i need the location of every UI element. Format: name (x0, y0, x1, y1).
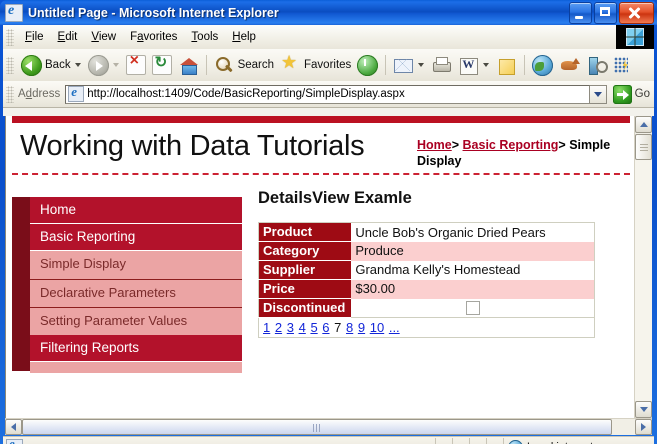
menu-favorites[interactable]: Favorites (123, 30, 184, 44)
search-icon (214, 55, 235, 76)
page-body: Home Basic Reporting Simple Display (12, 175, 630, 371)
menu-file[interactable]: File (18, 30, 51, 44)
sidebar-item-label: Basic Reporting (30, 224, 242, 251)
table-row: Product Uncle Bob's Organic Dried Pears (259, 223, 595, 242)
messenger-icon (613, 55, 634, 76)
sidebar-item-home[interactable]: Home (12, 197, 242, 224)
refresh-button[interactable] (149, 52, 175, 78)
security-zone-pane[interactable]: Local intranet (504, 438, 654, 444)
row-label-discontinued: Discontinued (259, 299, 352, 318)
row-value-category: Produce (351, 242, 595, 261)
pager-row: 1 2 3 4 5 6 7 8 9 10 (259, 318, 595, 338)
chevron-up-icon (640, 122, 648, 127)
menubar-grip[interactable] (6, 29, 14, 46)
sidebar-item-label: Setting Parameter Values (30, 308, 242, 335)
search-label: Search (238, 59, 274, 71)
table-row: Discontinued (259, 299, 595, 318)
close-button[interactable] (619, 2, 654, 24)
pager-link-3[interactable]: 3 (287, 320, 294, 335)
address-dropdown-button[interactable] (590, 85, 607, 104)
print-icon (431, 55, 452, 76)
note-icon (496, 55, 517, 76)
navigation-toolbar: Back Search Favorites (3, 49, 654, 82)
row-value-supplier: Grandma Kelly's Homestead (351, 261, 595, 280)
toolbar-separator-2 (385, 55, 386, 75)
toolbar-separator (206, 55, 207, 75)
window-title: Untitled Page - Microsoft Internet Explo… (28, 6, 279, 20)
home-button[interactable] (175, 52, 202, 78)
go-label: Go (635, 88, 650, 100)
page-vertical-scrollbar[interactable] (634, 116, 652, 418)
nav-tab-accent (12, 335, 30, 362)
table-row: Category Produce (259, 242, 595, 261)
globe-icon (508, 440, 523, 444)
toolbar-grip[interactable] (6, 57, 14, 74)
sidebar-item-label: Filtering Reports (30, 335, 242, 362)
horizontal-scroll-track[interactable] (612, 419, 635, 435)
favorites-star-icon (280, 55, 301, 76)
vertical-scroll-track[interactable] (635, 160, 652, 401)
browser-chrome: File Edit View Favorites Tools Help Back (3, 25, 654, 116)
edit-word-icon (458, 55, 479, 76)
toolbar-separator-3 (524, 55, 525, 75)
status-page-icon (6, 439, 23, 444)
sidebar-item-label: Declarative Parameters (30, 280, 242, 308)
horizontal-scroll-thumb[interactable] (22, 419, 612, 435)
status-pane-3 (470, 438, 487, 444)
row-value-price: $30.00 (351, 280, 595, 299)
favorites-button[interactable]: Favorites (277, 52, 354, 78)
pager-link-10[interactable]: 10 (370, 320, 384, 335)
msn-button[interactable] (529, 52, 556, 78)
pager-link-4[interactable]: 4 (299, 320, 306, 335)
pager-link-2[interactable]: 2 (275, 320, 282, 335)
back-dropdown-caret-icon[interactable] (75, 63, 81, 67)
msn-globe-icon (532, 55, 553, 76)
scroll-right-button[interactable] (635, 419, 652, 435)
nav-indent-accent (12, 362, 30, 371)
pager-link-more[interactable]: ... (389, 320, 400, 335)
address-url-text: http://localhost:1409/Code/BasicReportin… (87, 88, 405, 100)
table-row: Price $30.00 (259, 280, 595, 299)
row-label-category: Category (259, 242, 352, 261)
sidebar-nav: Home Basic Reporting Simple Display (12, 175, 242, 371)
back-button[interactable]: Back (18, 52, 85, 78)
page-title: Working with Data Tutorials (20, 131, 364, 161)
back-label: Back (45, 59, 71, 71)
print-button[interactable] (428, 52, 455, 78)
status-pane-4 (487, 438, 504, 444)
menu-bar: File Edit View Favorites Tools Help (3, 25, 654, 49)
menu-help[interactable]: Help (225, 30, 263, 44)
page-favicon-icon (68, 86, 84, 102)
fox-button[interactable] (556, 52, 583, 78)
search-button[interactable]: Search (211, 52, 277, 78)
table-row: Supplier Grandma Kelly's Homestead (259, 261, 595, 280)
chevron-down-icon (594, 92, 602, 97)
breadcrumb-separator-2: > (558, 138, 565, 152)
address-bar: Address http://localhost:1409/Code/Basic… (3, 81, 654, 108)
pager-link-5[interactable]: 5 (310, 320, 317, 335)
nav-indent-accent (12, 280, 30, 308)
menu-edit[interactable]: Edit (51, 30, 85, 44)
ie-page-icon (5, 4, 23, 22)
row-label-price: Price (259, 280, 352, 299)
sidebar-item-label: Simple Display (30, 251, 242, 279)
history-icon (357, 55, 378, 76)
content-heading: DetailsView Examle (258, 189, 630, 208)
addressbar-grip[interactable] (6, 86, 14, 103)
research-button[interactable] (583, 52, 610, 78)
go-button[interactable]: Go (613, 85, 650, 104)
breadcrumb: Home> Basic Reporting> Simple Display (417, 131, 622, 169)
breadcrumb-link-basic-reporting[interactable]: Basic Reporting (463, 138, 559, 152)
edit-dropdown-caret-icon[interactable] (483, 63, 489, 67)
messenger-button[interactable] (610, 52, 637, 78)
sidebar-item-partial[interactable] (12, 362, 242, 371)
pager-link-9[interactable]: 9 (358, 320, 365, 335)
minimize-button[interactable] (569, 2, 592, 24)
page-masthead: Working with Data Tutorials Home> Basic … (12, 123, 630, 175)
nav-indent-accent (12, 308, 30, 335)
sidebar-item-basic-reporting[interactable]: Basic Reporting (12, 224, 242, 251)
chevron-left-icon (11, 423, 16, 431)
status-bar: Local intranet (3, 436, 654, 444)
menu-view[interactable]: View (84, 30, 123, 44)
address-input[interactable]: http://localhost:1409/Code/BasicReportin… (65, 85, 589, 104)
row-value-discontinued (351, 299, 595, 318)
pager-link-1[interactable]: 1 (263, 320, 270, 335)
nav-tab-accent (12, 197, 30, 224)
pager-current-page: 7 (334, 320, 341, 335)
mail-dropdown-caret-icon[interactable] (418, 63, 424, 67)
ie-browser-window: Untitled Page - Microsoft Internet Explo… (0, 0, 657, 444)
sidebar-item-simple-display[interactable]: Simple Display (12, 251, 242, 279)
sidebar-item-setting-parameter-values[interactable]: Setting Parameter Values (12, 308, 242, 335)
sidebar-item-filtering-reports[interactable]: Filtering Reports (12, 335, 242, 362)
row-value-product: Uncle Bob's Organic Dried Pears (351, 223, 595, 242)
mail-icon (393, 55, 414, 76)
pager-link-6[interactable]: 6 (322, 320, 329, 335)
forward-dropdown-caret-icon[interactable] (113, 63, 119, 67)
title-bar[interactable]: Untitled Page - Microsoft Internet Explo… (0, 0, 657, 25)
scroll-up-button[interactable] (635, 116, 652, 133)
maximize-button[interactable] (594, 2, 617, 24)
breadcrumb-separator-1: > (452, 138, 459, 152)
pager: 1 2 3 4 5 6 7 8 9 10 (259, 318, 595, 338)
page-top-rule (12, 116, 630, 123)
address-label: Address (18, 88, 60, 100)
stop-button[interactable] (123, 52, 149, 78)
status-pane-1 (436, 438, 453, 444)
status-message-pane (3, 438, 436, 444)
sidebar-item-declarative-parameters[interactable]: Declarative Parameters (12, 280, 242, 308)
chevron-right-icon (641, 423, 646, 431)
main-content: DetailsView Examle Product Uncle Bob's O… (242, 175, 630, 338)
research-icon (586, 55, 607, 76)
sidebar-item-label: Home (30, 197, 242, 224)
chevron-down-icon (640, 407, 648, 412)
edit-button[interactable] (455, 52, 493, 78)
details-view-table: Product Uncle Bob's Organic Dried Pears … (258, 222, 595, 338)
discontinued-checkbox[interactable] (466, 301, 480, 315)
favorites-label: Favorites (304, 59, 351, 71)
notes-button[interactable] (493, 52, 520, 78)
row-label-supplier: Supplier (259, 261, 352, 280)
refresh-icon (152, 55, 172, 75)
breadcrumb-link-home[interactable]: Home (417, 138, 452, 152)
fox-icon (559, 55, 580, 76)
scroll-left-button[interactable] (5, 419, 22, 435)
web-page: Working with Data Tutorials Home> Basic … (12, 116, 630, 371)
page-scroll-area: Working with Data Tutorials Home> Basic … (6, 116, 636, 418)
back-icon (21, 55, 42, 76)
page-viewport: Working with Data Tutorials Home> Basic … (5, 116, 652, 418)
status-pane-2 (453, 438, 470, 444)
pager-link-8[interactable]: 8 (346, 320, 353, 335)
go-arrow-icon (613, 85, 632, 104)
history-button[interactable] (354, 52, 381, 78)
mail-button[interactable] (390, 52, 428, 78)
nav-indent-accent (12, 251, 30, 279)
page-horizontal-scrollbar[interactable] (5, 418, 652, 435)
nav-tab-accent (12, 224, 30, 251)
row-label-product: Product (259, 223, 352, 242)
ie-brand-logo (616, 25, 654, 49)
window-controls (569, 2, 654, 24)
home-icon (178, 55, 199, 76)
forward-icon (88, 55, 109, 76)
vertical-scroll-thumb[interactable] (635, 134, 652, 160)
stop-icon (126, 55, 146, 75)
menu-tools[interactable]: Tools (184, 30, 225, 44)
scroll-down-button[interactable] (635, 401, 652, 418)
sidebar-item-label-partial (30, 362, 242, 373)
forward-button[interactable] (85, 52, 123, 78)
